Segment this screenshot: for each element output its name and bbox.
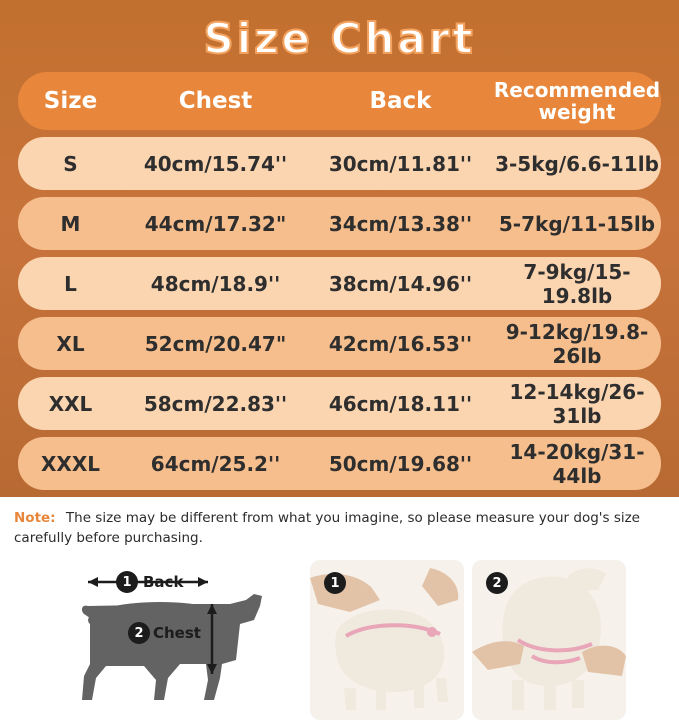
size-chart-panel: Size Chart Size Chest Back Recommended w… — [0, 0, 679, 497]
cell-size: S — [18, 152, 123, 176]
table-header-row: Size Chest Back Recommended weight — [18, 72, 661, 130]
note-text: The size may be different from what you … — [14, 510, 640, 546]
cell-weight: 7-9kg/15-19.8lb — [493, 260, 661, 308]
cell-chest: 58cm/22.83'' — [123, 392, 308, 416]
cell-back: 42cm/16.53'' — [308, 332, 493, 356]
cell-back: 50cm/19.68'' — [308, 452, 493, 476]
cell-weight: 5-7kg/11-15lb — [493, 212, 661, 236]
note-label: Note: — [14, 510, 56, 526]
cell-weight: 3-5kg/6.6-11lb — [493, 152, 661, 176]
cell-back: 38cm/14.96'' — [308, 272, 493, 296]
header-chest: Chest — [123, 88, 308, 114]
cell-weight: 14-20kg/31-44lb — [493, 440, 661, 488]
photo1-badge: 1 — [324, 572, 346, 594]
note-block: Note: The size may be different from wha… — [14, 508, 664, 548]
header-back: Back — [308, 88, 493, 114]
back-label: Back — [143, 573, 183, 591]
table-row: L 48cm/18.9'' 38cm/14.96'' 7-9kg/15-19.8… — [18, 257, 661, 310]
cell-chest: 40cm/15.74'' — [123, 152, 308, 176]
table-row: XL 52cm/20.47" 42cm/16.53'' 9-12kg/19.8-… — [18, 317, 661, 370]
table-row: XXL 58cm/22.83'' 46cm/18.11'' 12-14kg/26… — [18, 377, 661, 430]
photo2-badge: 2 — [486, 572, 508, 594]
cell-weight: 9-12kg/19.8-26lb — [493, 320, 661, 368]
measurement-figures: 1 Back 2 Chest 1 2 — [0, 556, 679, 721]
table-row: M 44cm/17.32" 34cm/13.38'' 5-7kg/11-15lb — [18, 197, 661, 250]
cell-back: 30cm/11.81'' — [308, 152, 493, 176]
cell-size: XXL — [18, 392, 123, 416]
cell-back: 46cm/18.11'' — [308, 392, 493, 416]
back-badge: 1 — [116, 571, 138, 593]
cell-chest: 44cm/17.32" — [123, 212, 308, 236]
cell-size: XXXL — [18, 452, 123, 476]
table-row: XXXL 64cm/25.2'' 50cm/19.68'' 14-20kg/31… — [18, 437, 661, 490]
photo-back-measurement: 1 — [310, 560, 464, 720]
dog-diagram: 1 Back 2 Chest — [40, 560, 300, 720]
chest-label: Chest — [153, 624, 201, 642]
page-title: Size Chart — [0, 14, 679, 63]
cell-size: L — [18, 272, 123, 296]
chest-badge: 2 — [128, 622, 150, 644]
cell-size: M — [18, 212, 123, 236]
cell-size: XL — [18, 332, 123, 356]
header-weight: Recommended weight — [493, 79, 661, 123]
header-size: Size — [18, 88, 123, 114]
cell-weight: 12-14kg/26-31lb — [493, 380, 661, 428]
cell-chest: 64cm/25.2'' — [123, 452, 308, 476]
size-table: Size Chest Back Recommended weight S 40c… — [18, 72, 661, 497]
cell-back: 34cm/13.38'' — [308, 212, 493, 236]
cell-chest: 52cm/20.47" — [123, 332, 308, 356]
photo-chest-measurement: 2 — [472, 560, 626, 720]
cell-chest: 48cm/18.9'' — [123, 272, 308, 296]
table-row: S 40cm/15.74'' 30cm/11.81'' 3-5kg/6.6-11… — [18, 137, 661, 190]
